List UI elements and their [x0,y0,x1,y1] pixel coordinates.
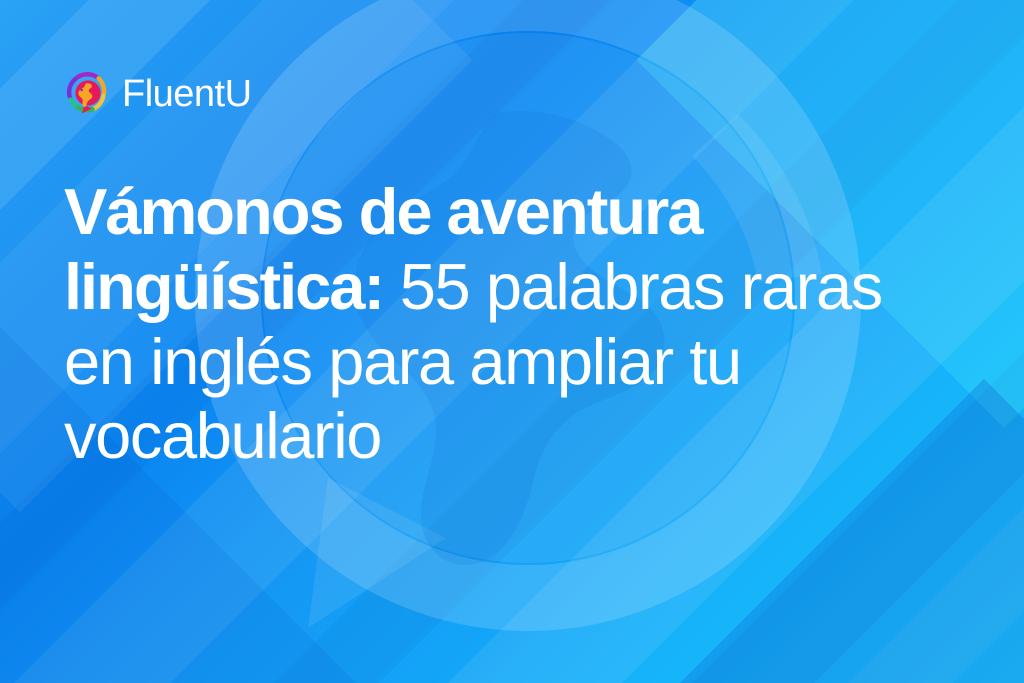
fluentu-globe-logo-icon [64,68,110,120]
brand-wordmark: FluentU [122,75,252,113]
hero-banner: FluentU Vámonos de aventura lingüística:… [0,0,1024,683]
page-title: Vámonos de aventura lingüística: 55 pala… [64,175,964,474]
brand-logo[interactable]: FluentU [64,68,252,120]
